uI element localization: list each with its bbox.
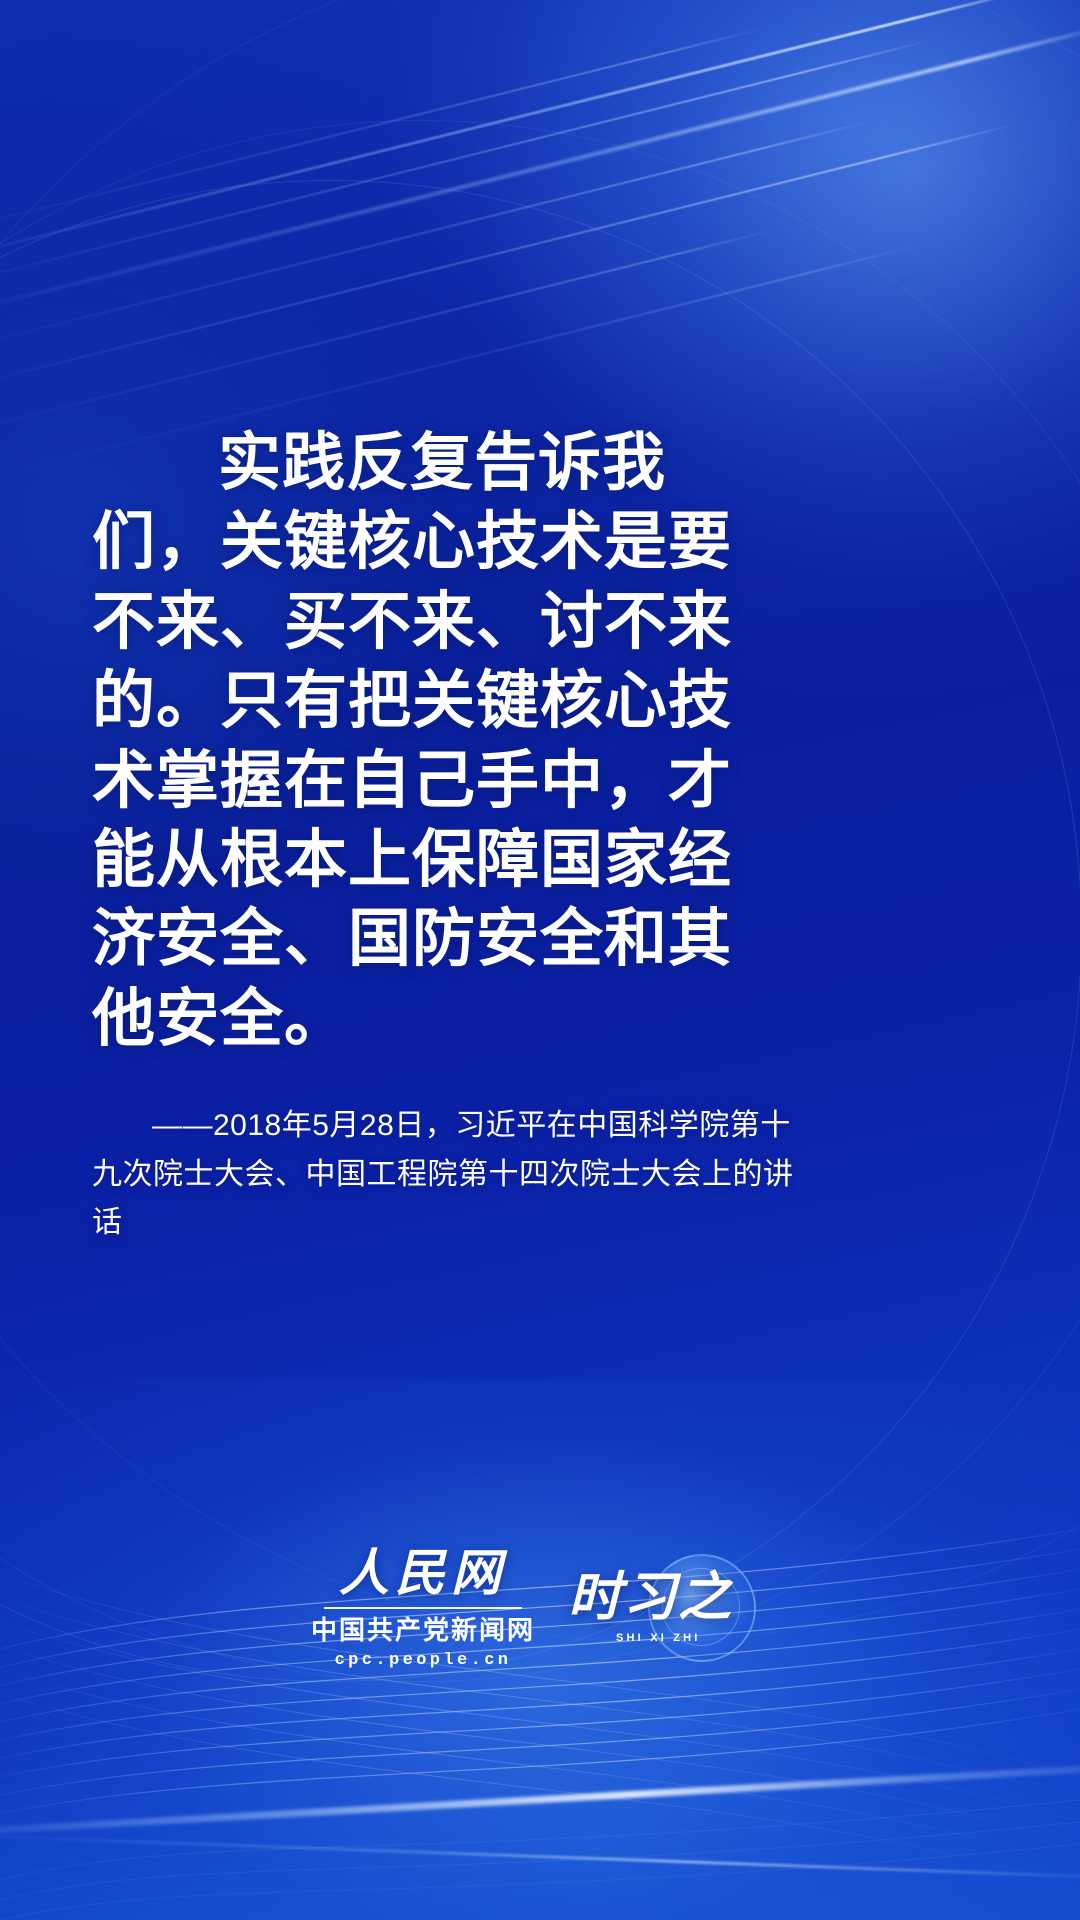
light-beam [0,229,774,439]
people-cn-domain: cpc.people.cn [335,1651,512,1670]
shixizhi-title: 时习之 [568,1572,733,1625]
poster-canvas: 实践反复告诉我们，关键核心技术是要不来、买不来、讨不来的。只有把关键核心技术掌握… [0,0,1080,1920]
light-beam [0,123,1016,396]
people-cn-logo[interactable]: 人民网 中国共产党新闻网 cpc.people.cn [318,1548,528,1670]
quote-attribution: ——2018年5月28日，习近平在中国科学院第十九次院士大会、中国工程院第十四次… [92,1102,802,1248]
people-cn-brand-text: 人民网 [339,1548,507,1604]
bottom-light-streak [0,1758,1080,1839]
logo-divider-rule [324,1607,522,1609]
light-beam [0,120,871,359]
bottom-light-streak-secondary [0,1833,1080,1880]
light-beam [0,39,933,297]
light-beam [0,0,1043,273]
quote-text: 实践反复告诉我们，关键核心技术是要不来、买不来、讨不来的。只有把关键核心技术掌握… [92,424,792,1059]
shixizhi-pinyin: SHI XI ZHI [616,1632,701,1644]
shixizhi-logo[interactable]: 时习之 SHI XI ZHI [562,1548,762,1668]
logo-row: 人民网 中国共产党新闻网 cpc.people.cn 时习之 SHI XI ZH… [0,1548,1080,1670]
light-beam [0,23,1080,327]
people-cn-subtitle: 中国共产党新闻网 [311,1616,535,1645]
light-beam [0,27,765,247]
quote-block: 实践反复告诉我们，关键核心技术是要不来、买不来、讨不来的。只有把关键核心技术掌握… [92,424,992,1059]
